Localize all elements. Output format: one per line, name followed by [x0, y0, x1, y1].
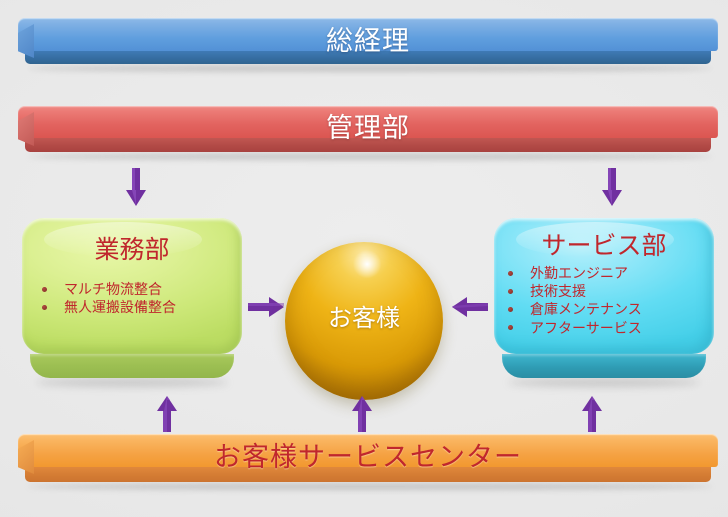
- list-item: 無人運搬設備整合: [38, 298, 176, 316]
- left-arrow-icon-service-to-customer: [452, 297, 488, 317]
- sphere-customer-label: お客様: [285, 298, 443, 333]
- bar-shadow: [28, 65, 712, 72]
- bar-general-manager-label: 総経理: [18, 19, 718, 58]
- box-base: [30, 354, 234, 378]
- bar-shadow: [28, 483, 712, 490]
- list-item: アフターサービス: [504, 319, 642, 337]
- service-department-title: サービス部: [494, 226, 714, 262]
- bar-customer-service-center-label: お客様サービスセンター: [18, 435, 718, 474]
- list-item: 外勤エンジニア: [504, 264, 642, 282]
- down-arrow-icon-admin-to-service: [602, 168, 622, 206]
- service-bullet-list: 外勤エンジニア 技術支援 倉庫メンテナンス アフターサービス: [504, 264, 642, 337]
- sphere-customer[interactable]: お客様: [285, 242, 443, 400]
- bar-administration-label: 管理部: [18, 106, 718, 145]
- up-arrow-icon-center-to-ops: [157, 396, 177, 432]
- right-arrow-icon-ops-to-customer: [248, 297, 284, 317]
- bar-customer-service-center[interactable]: お客様サービスセンター: [18, 434, 718, 490]
- bar-administration-department[interactable]: 管理部: [18, 106, 718, 160]
- operations-department-title: 業務部: [22, 230, 242, 266]
- box-shadow: [36, 378, 228, 387]
- diagram-canvas: 総経理 管理部 業務部 マルチ物流整合 無人運搬設備整合: [0, 0, 728, 517]
- operations-bullet-list: マルチ物流整合 無人運搬設備整合: [38, 280, 176, 316]
- bar-general-manager[interactable]: 総経理: [18, 18, 718, 70]
- up-arrow-icon-center-to-service: [582, 396, 602, 432]
- box-shadow: [508, 378, 700, 387]
- box-service-department[interactable]: サービス部 外勤エンジニア 技術支援 倉庫メンテナンス アフターサービス: [494, 218, 714, 386]
- up-arrow-icon-center-to-customer: [352, 396, 372, 432]
- down-arrow-icon-gm-to-admin: [126, 168, 146, 206]
- box-operations-department[interactable]: 業務部 マルチ物流整合 無人運搬設備整合: [22, 218, 242, 386]
- box-base: [502, 354, 706, 378]
- bar-shadow: [28, 153, 712, 160]
- list-item: 技術支援: [504, 282, 642, 300]
- list-item: 倉庫メンテナンス: [504, 300, 642, 318]
- list-item: マルチ物流整合: [38, 280, 176, 298]
